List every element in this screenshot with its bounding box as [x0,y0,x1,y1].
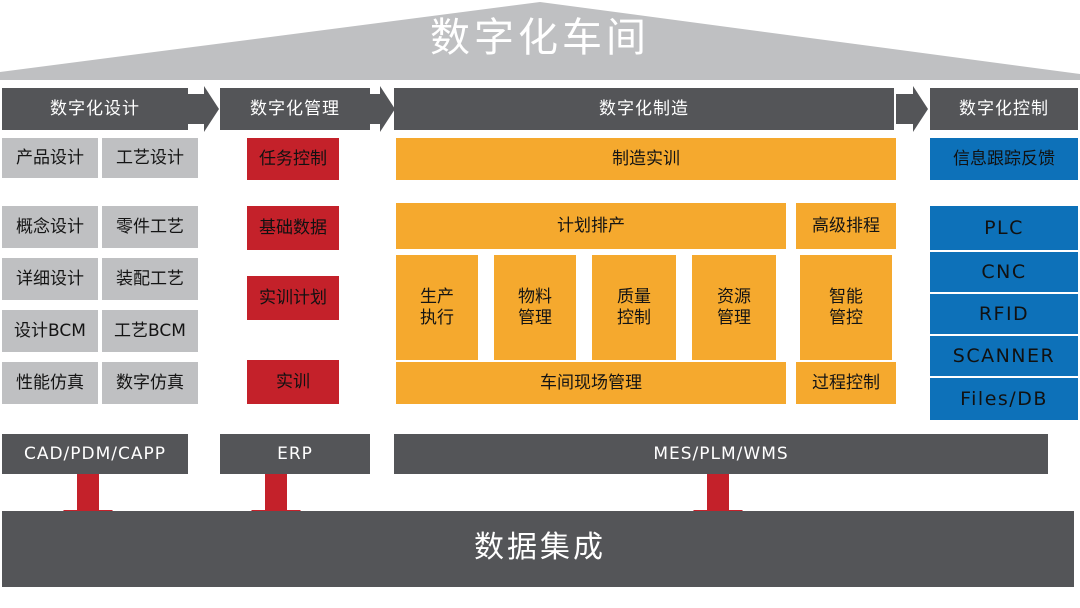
cell-training: 实训 [247,360,339,404]
cell-quality-control: 质量 控制 [592,255,676,360]
platform-erp: ERP [220,434,370,474]
cell-digital-sim: 数字仿真 [102,362,198,404]
cell-scanner: SCANNER [930,336,1078,376]
cell-detail-design: 详细设计 [2,258,98,300]
header-digital-control: 数字化控制 [930,88,1078,130]
header-digital-design: 数字化设计 [2,88,188,130]
cell-design-bcm: 设计BCM [2,310,98,352]
cell-advanced-scheduling: 高级排程 [796,203,896,249]
cell-plc: PLC [930,206,1078,250]
cell-cnc: CNC [930,252,1078,292]
footer-label: 数据集成 [0,528,1080,568]
cell-task-control: 任务控制 [247,138,339,180]
cell-training-plan: 实训计划 [247,276,339,320]
cell-rfid: RFID [930,294,1078,334]
cell-production-execution: 生产 执行 [396,255,478,360]
cell-process-bcm: 工艺BCM [102,310,198,352]
cell-workshop-site-management: 车间现场管理 [396,362,786,404]
cell-files-db: Files/DB [930,378,1078,420]
cell-part-process: 零件工艺 [102,206,198,248]
chevron-right-icon-2 [370,84,396,134]
cell-product-design: 产品设计 [2,138,98,178]
cell-resource-management: 资源 管理 [692,255,776,360]
cell-manufacturing-training: 制造实训 [396,138,896,180]
cell-production-planning: 计划排产 [396,203,786,249]
cell-concept-design: 概念设计 [2,206,98,248]
platform-mes-plm-wms: MES/PLM/WMS [394,434,1048,474]
header-digital-management: 数字化管理 [220,88,370,130]
cell-material-management: 物料 管理 [494,255,576,360]
cell-info-tracking-feedback: 信息跟踪反馈 [930,138,1078,180]
cell-basic-data: 基础数据 [247,206,339,250]
page-title: 数字化车间 [0,12,1080,64]
cell-assembly-process: 装配工艺 [102,258,198,300]
chevron-right-icon-3 [896,84,930,134]
chevron-right-icon-1 [188,84,220,134]
cell-process-design: 工艺设计 [102,138,198,178]
cell-intelligent-control: 智能 管控 [800,255,892,360]
header-digital-manufacturing: 数字化制造 [394,88,894,130]
cell-process-control: 过程控制 [796,362,896,404]
cell-performance-sim: 性能仿真 [2,362,98,404]
digital-workshop-diagram: 数字化车间 数字化设计 数字化管理 数字化制造 数字化控制 产品设计 工艺设计 … [0,0,1080,608]
platform-cad-pdm-capp: CAD/PDM/CAPP [2,434,188,474]
